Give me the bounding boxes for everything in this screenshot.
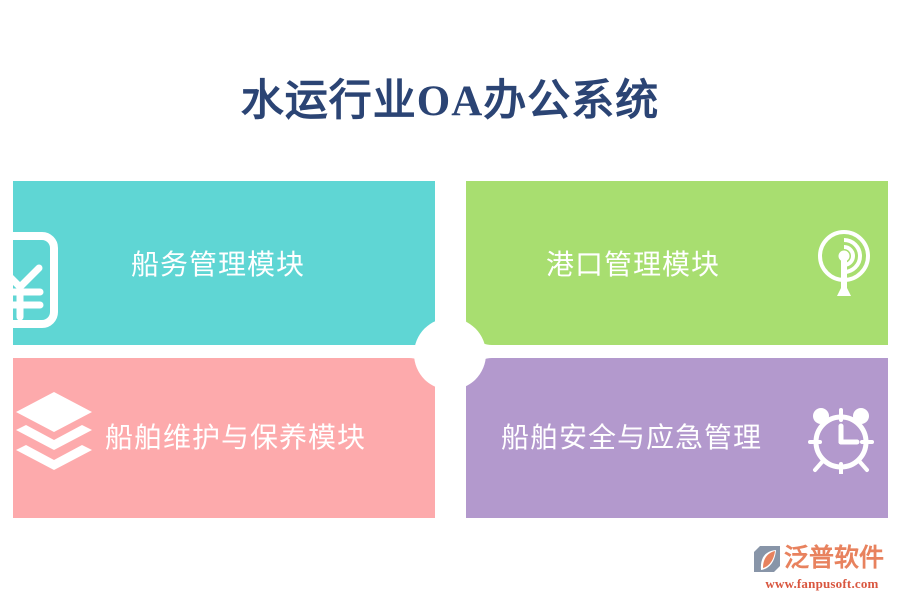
module-card-safety-label: 船舶安全与应急管理: [501, 416, 762, 456]
yuan-document-icon: [0, 232, 58, 328]
brand-logo-row: 泛普软件: [752, 543, 892, 575]
fanpu-logo-mark-icon: [752, 544, 782, 574]
module-card-maintenance-label: 船舶维护与保养模块: [105, 416, 366, 456]
diagram-canvas: 水运行业OA办公系统 船务管理模块 港口管理模块 船舶维护与保养模块 船舶安全与…: [0, 0, 900, 600]
brand-wordmark: 泛普软件: [784, 544, 884, 574]
module-card-port-label: 港口管理模块: [546, 243, 720, 283]
brand-url: www.fanpusoft.com: [752, 576, 892, 592]
module-card-shipping[interactable]: 船务管理模块: [13, 181, 435, 345]
module-card-shipping-label: 船务管理模块: [131, 243, 305, 283]
layers-icon: [14, 390, 94, 476]
alarm-clock-icon: [806, 404, 876, 474]
brand-logo: 泛普软件 www.fanpusoft.com: [752, 543, 892, 595]
broadcast-icon: [812, 230, 876, 302]
center-circle: [414, 318, 486, 390]
page-title: 水运行业OA办公系统: [0, 66, 900, 128]
